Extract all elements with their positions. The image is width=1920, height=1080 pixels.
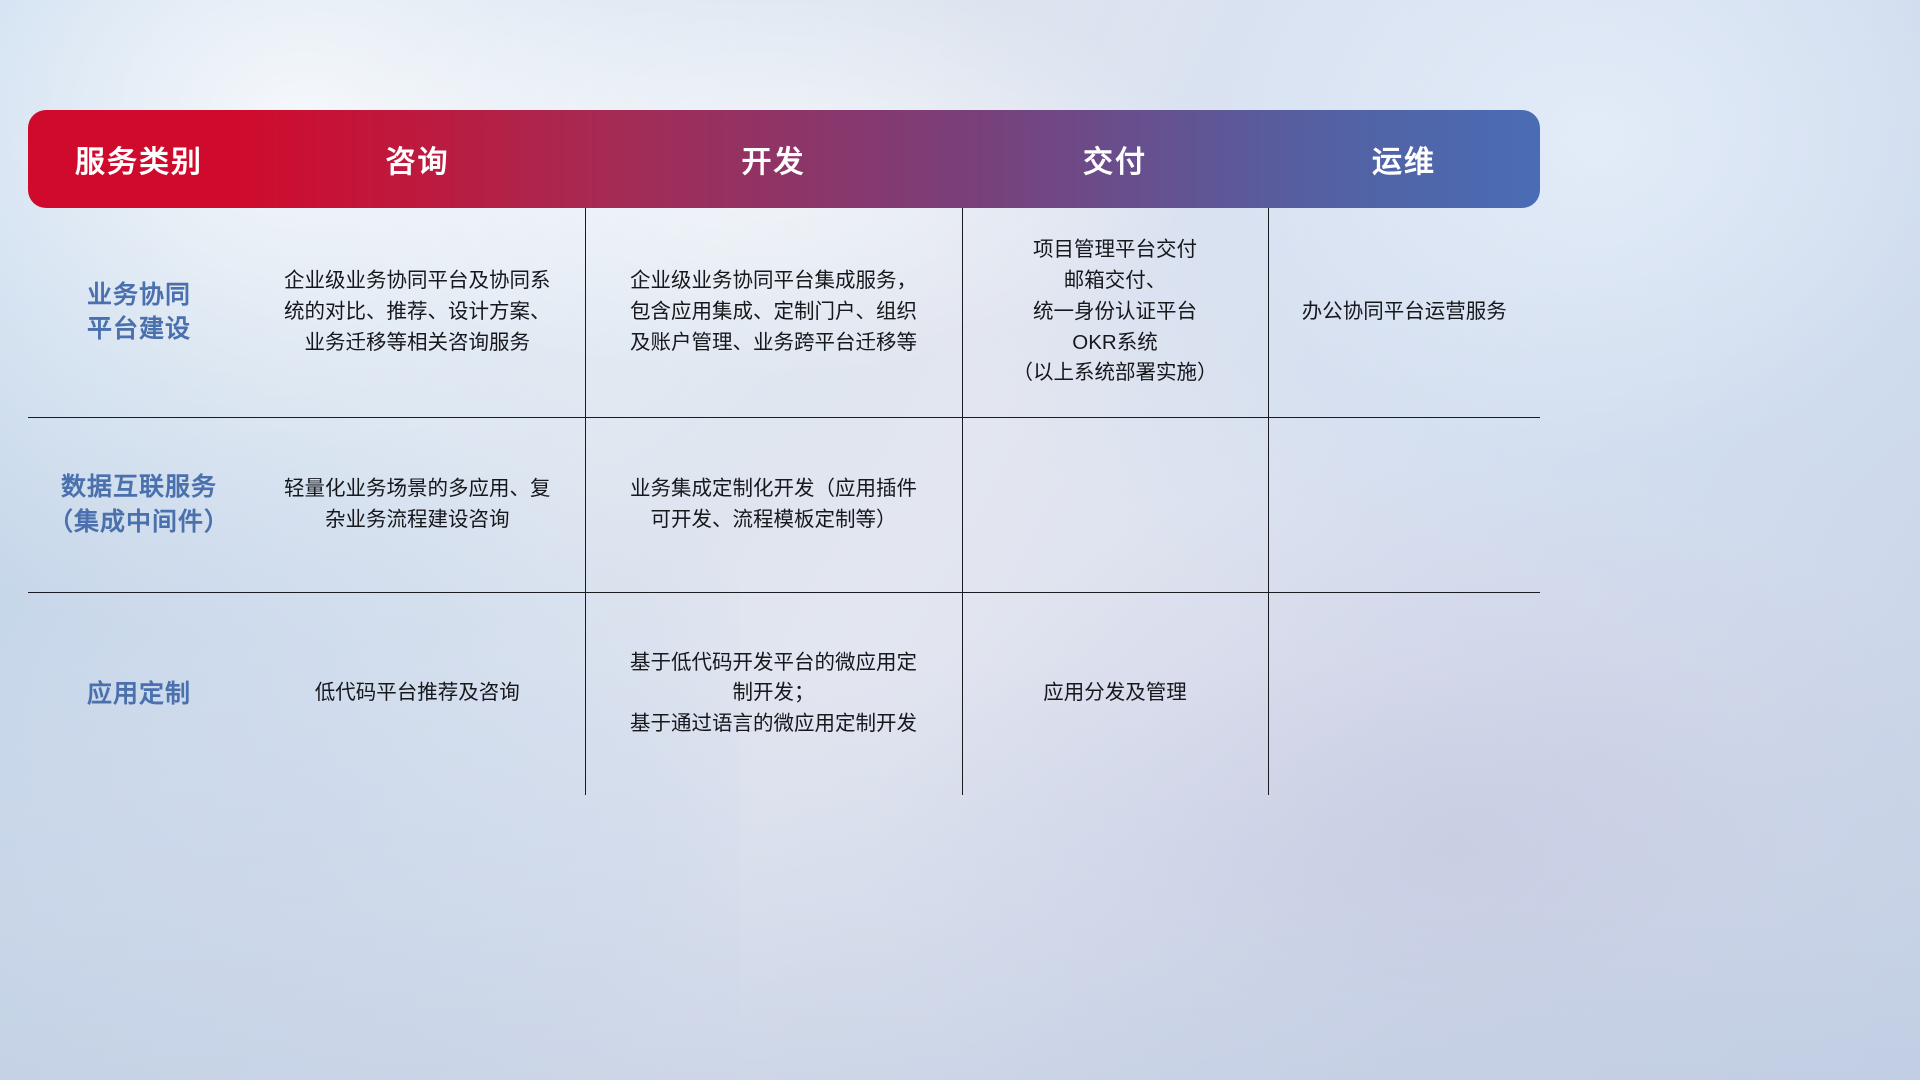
table-row: 应用定制 低代码平台推荐及咨询 基于低代码开发平台的微应用定 制开发； 基于通过… bbox=[28, 592, 1540, 795]
column-header-development: 开发 bbox=[585, 110, 962, 208]
column-header-consulting-label: 咨询 bbox=[386, 146, 450, 179]
table-row: 数据互联服务 （集成中间件） 轻量化业务场景的多应用、复 杂业务流程建设咨询 业… bbox=[28, 417, 1540, 592]
cell-consulting-text: 轻量化业务场景的多应用、复 杂业务流程建设咨询 bbox=[266, 474, 569, 536]
cell-delivery-text: 项目管理平台交付 邮箱交付、 统一身份认证平台 OKR系统 （以上系统部署实施） bbox=[979, 235, 1252, 389]
column-header-development-label: 开发 bbox=[742, 146, 806, 179]
row-category-text: 数据互联服务 （集成中间件） bbox=[44, 470, 234, 539]
service-category-table: 服务类别 咨询 开发 交付 运维 业务协同 平台建设 bbox=[28, 110, 1540, 795]
row-category-text: 应用定制 bbox=[44, 677, 234, 712]
cell-delivery bbox=[962, 417, 1268, 592]
cell-consulting-text: 企业级业务协同平台及协同系 统的对比、推荐、设计方案、 业务迁移等相关咨询服务 bbox=[266, 266, 569, 358]
cell-delivery-text: 应用分发及管理 bbox=[979, 678, 1252, 709]
cell-consulting: 低代码平台推荐及咨询 bbox=[250, 592, 585, 795]
cell-consulting: 企业级业务协同平台及协同系 统的对比、推荐、设计方案、 业务迁移等相关咨询服务 bbox=[250, 208, 585, 417]
row-category-label: 应用定制 bbox=[28, 592, 250, 795]
cell-operations bbox=[1268, 417, 1540, 592]
cell-operations bbox=[1268, 592, 1540, 795]
column-header-delivery-label: 交付 bbox=[1083, 146, 1147, 179]
cell-delivery: 项目管理平台交付 邮箱交付、 统一身份认证平台 OKR系统 （以上系统部署实施） bbox=[962, 208, 1268, 417]
table-header: 服务类别 咨询 开发 交付 运维 bbox=[28, 110, 1540, 208]
column-header-delivery: 交付 bbox=[962, 110, 1268, 208]
column-header-category-label: 服务类别 bbox=[75, 146, 203, 179]
cell-operations: 办公协同平台运营服务 bbox=[1268, 208, 1540, 417]
cell-development: 基于低代码开发平台的微应用定 制开发； 基于通过语言的微应用定制开发 bbox=[585, 592, 962, 795]
row-category-label: 数据互联服务 （集成中间件） bbox=[28, 417, 250, 592]
row-category-text: 业务协同 平台建设 bbox=[44, 278, 234, 347]
cell-development: 业务集成定制化开发（应用插件 可开发、流程模板定制等） bbox=[585, 417, 962, 592]
service-matrix: 服务类别 咨询 开发 交付 运维 业务协同 平台建设 bbox=[28, 110, 1540, 795]
cell-development-text: 企业级业务协同平台集成服务， 包含应用集成、定制门户、组织 及账户管理、业务跨平… bbox=[602, 266, 946, 358]
column-header-operations-label: 运维 bbox=[1372, 146, 1436, 179]
cell-consulting: 轻量化业务场景的多应用、复 杂业务流程建设咨询 bbox=[250, 417, 585, 592]
cell-operations-text: 办公协同平台运营服务 bbox=[1285, 297, 1525, 328]
cell-development: 企业级业务协同平台集成服务， 包含应用集成、定制门户、组织 及账户管理、业务跨平… bbox=[585, 208, 962, 417]
cell-development-text: 基于低代码开发平台的微应用定 制开发； 基于通过语言的微应用定制开发 bbox=[602, 648, 946, 740]
table-header-row: 服务类别 咨询 开发 交付 运维 bbox=[28, 110, 1540, 208]
column-header-consulting: 咨询 bbox=[250, 110, 585, 208]
column-header-operations: 运维 bbox=[1268, 110, 1540, 208]
row-category-label: 业务协同 平台建设 bbox=[28, 208, 250, 417]
cell-delivery: 应用分发及管理 bbox=[962, 592, 1268, 795]
cell-development-text: 业务集成定制化开发（应用插件 可开发、流程模板定制等） bbox=[602, 474, 946, 536]
cell-consulting-text: 低代码平台推荐及咨询 bbox=[266, 678, 569, 709]
table-row: 业务协同 平台建设 企业级业务协同平台及协同系 统的对比、推荐、设计方案、 业务… bbox=[28, 208, 1540, 417]
column-header-category: 服务类别 bbox=[28, 110, 250, 208]
table-body: 业务协同 平台建设 企业级业务协同平台及协同系 统的对比、推荐、设计方案、 业务… bbox=[28, 208, 1540, 795]
